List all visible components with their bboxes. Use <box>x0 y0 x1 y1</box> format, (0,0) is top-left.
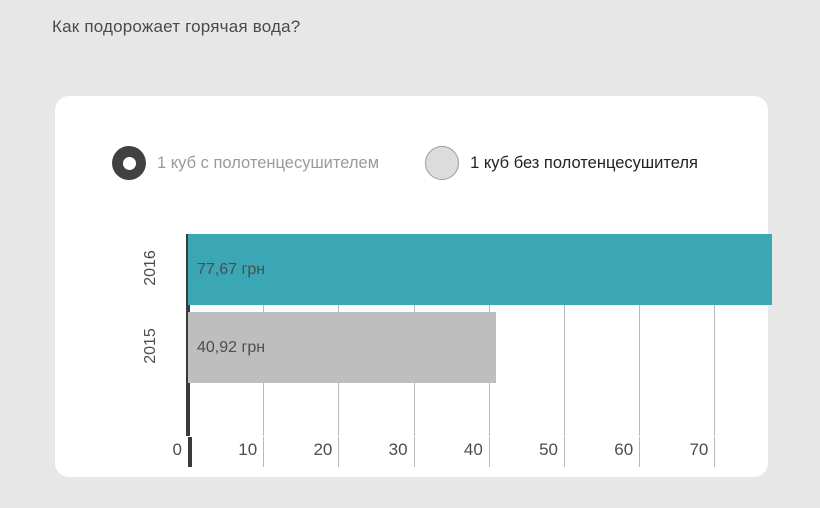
x-tick-label: 20 <box>313 440 338 460</box>
circle-unselected-icon[interactable] <box>425 146 459 180</box>
page-title: Как подорожает горячая вода? <box>52 17 300 37</box>
x-tick-label: 0 <box>173 440 188 460</box>
chart-legend: 1 куб с полотенцесушителем 1 куб без пол… <box>112 146 698 180</box>
x-tick-label: 10 <box>238 440 263 460</box>
bar-2016[interactable] <box>188 234 772 305</box>
legend-item-with-towel-warmer[interactable]: 1 куб с полотенцесушителем <box>112 146 379 180</box>
x-tick-mark <box>338 437 339 467</box>
bar-value-2015: 40,92 грн <box>197 339 265 357</box>
x-tick-label: 30 <box>389 440 414 460</box>
x-tick-label: 50 <box>539 440 564 460</box>
legend-label-without-towel-warmer: 1 куб без полотенцесушителя <box>470 154 698 173</box>
x-tick-mark <box>489 437 490 467</box>
x-tick-mark <box>263 437 264 467</box>
x-tick-mark <box>414 437 415 467</box>
x-tick-label: 40 <box>464 440 489 460</box>
y-tick-label-2016: 2016 <box>142 238 160 298</box>
x-tick-mark <box>639 437 640 467</box>
legend-item-without-towel-warmer[interactable]: 1 куб без полотенцесушителя <box>425 146 698 180</box>
plot-area: 77,67 грн 40,92 грн 2016 2015 <box>131 234 753 436</box>
x-tick-mark <box>564 437 565 467</box>
x-tick-mark <box>714 437 715 467</box>
chart-card: 1 куб с полотенцесушителем 1 куб без пол… <box>55 96 768 477</box>
x-axis: 010203040506070 <box>131 440 753 474</box>
x-tick-mark <box>188 437 192 467</box>
bar-value-2016: 77,67 грн <box>197 261 265 279</box>
x-tick-label: 70 <box>689 440 714 460</box>
legend-label-with-towel-warmer: 1 куб с полотенцесушителем <box>157 154 379 173</box>
y-tick-label-2015: 2015 <box>142 316 160 376</box>
x-tick-label: 60 <box>614 440 639 460</box>
donut-selected-icon[interactable] <box>112 146 146 180</box>
